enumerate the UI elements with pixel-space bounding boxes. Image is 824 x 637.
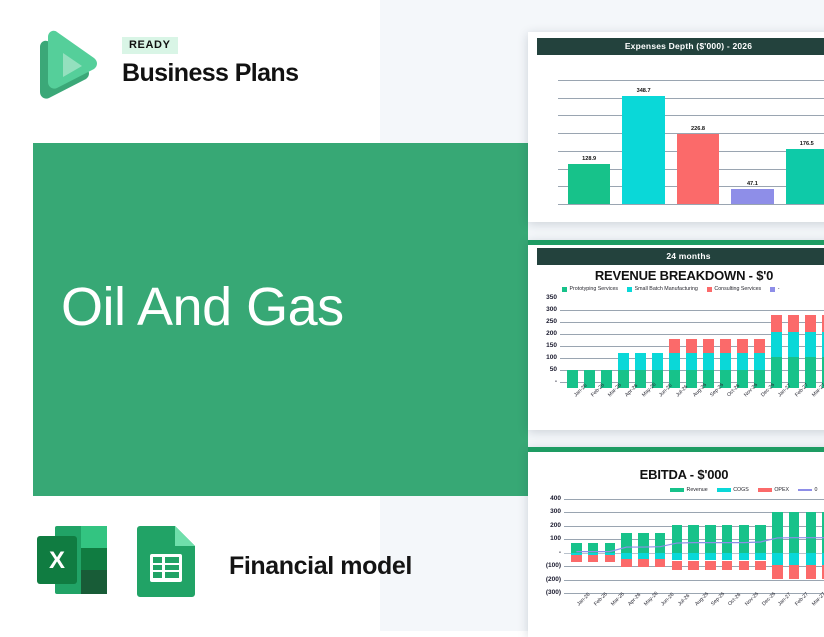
- stack-seg: [669, 339, 680, 353]
- legend-item: 0: [798, 487, 817, 493]
- stack-seg: [754, 339, 765, 353]
- expenses-depth-plot: 128.9348.7226.847.1176.5: [538, 62, 824, 212]
- legend-ebitda: RevenueCOGSOPEX0: [670, 487, 818, 493]
- gridline: [560, 334, 824, 335]
- legend-swatch: [670, 488, 684, 492]
- microsoft-excel-icon: X: [33, 522, 111, 598]
- gridline: [560, 322, 824, 323]
- chart-card-ebitda[interactable]: EBITDA - $'000 RevenueCOGSOPEX0 40030020…: [528, 447, 824, 637]
- y-tick: 100: [538, 355, 557, 362]
- chart-header-24-months: 24 months: [537, 248, 824, 265]
- gridline: [558, 115, 824, 116]
- stack-seg: [771, 315, 782, 333]
- legend-swatch: [562, 287, 567, 292]
- legend-swatch: [707, 287, 712, 292]
- stack-seg: [635, 353, 646, 370]
- revenue-breakdown-plot: 35030025020015010050-: [538, 296, 824, 392]
- y-tick: 250: [538, 319, 557, 326]
- google-sheets-icon: [129, 522, 203, 598]
- legend-item: Revenue: [670, 487, 708, 493]
- stack-seg: [618, 353, 629, 370]
- legend-item: OPEX: [758, 487, 789, 493]
- stack-seg: [788, 315, 799, 333]
- y-tick: 350: [538, 295, 557, 302]
- legend-label: Small Batch Manufacturing: [635, 286, 698, 292]
- legend-label: OPEX: [774, 487, 789, 493]
- y-tick: 50: [538, 367, 557, 374]
- stack-seg: [652, 353, 663, 370]
- stack-seg: [567, 370, 578, 388]
- legend-swatch: [770, 287, 775, 292]
- ebitda-plot: 400300200100-(100)(200)(300): [538, 497, 824, 601]
- stack-seg: [686, 339, 697, 353]
- gridline: [558, 204, 824, 205]
- legend-item: Prototyping Services: [562, 286, 618, 292]
- chart-title-ebitda: EBITDA - $'000: [528, 467, 824, 482]
- legend-item: Small Batch Manufacturing: [627, 286, 698, 292]
- bar-4: [731, 189, 773, 204]
- page-title: Oil And Gas: [61, 276, 344, 338]
- stack-seg: [754, 353, 765, 370]
- stack-seg: [720, 353, 731, 370]
- stack-seg: [737, 339, 748, 353]
- slide-canvas: READY Business Plans Oil And Gas X: [0, 0, 824, 631]
- ebitda-line: [538, 497, 824, 601]
- stack-seg: [737, 353, 748, 370]
- legend-label: COGS: [733, 487, 749, 493]
- stack-seg: [805, 332, 816, 357]
- stack-seg: [771, 332, 782, 357]
- legend-revenue: Prototyping ServicesSmall Batch Manufact…: [562, 286, 779, 292]
- legend-label: -: [778, 286, 780, 292]
- chart-header-expenses: Expenses Depth ($'000) - 2026: [537, 38, 824, 55]
- stack-seg: [686, 370, 697, 388]
- legend-line: [798, 489, 812, 491]
- legend-swatch: [627, 287, 632, 292]
- legend-label: Consulting Services: [714, 286, 761, 292]
- brand-header: READY Business Plans: [30, 25, 360, 105]
- stack-seg: [703, 339, 714, 353]
- stack-seg: [686, 353, 697, 370]
- chart-card-expenses-depth[interactable]: Expenses Depth ($'000) - 2026 128.9348.7…: [528, 32, 824, 222]
- chart-title-revenue: REVENUE BREAKDOWN - $'0: [528, 268, 824, 283]
- y-tick: -: [538, 379, 557, 386]
- legend-swatch: [717, 488, 731, 492]
- stack-seg: [788, 332, 799, 357]
- accent-strip-ebitda: [528, 447, 824, 452]
- play-logo-icon: [30, 29, 98, 101]
- bar-3: [677, 134, 719, 204]
- stack-seg: [720, 339, 731, 353]
- gridline: [560, 310, 824, 311]
- ready-badge: READY: [122, 37, 178, 54]
- legend-label: 0: [815, 487, 818, 493]
- stack-seg: [805, 315, 816, 333]
- stack-seg: [703, 353, 714, 370]
- gridline: [558, 98, 824, 99]
- y-tick: 150: [538, 343, 557, 350]
- bar-2: [622, 96, 664, 204]
- y-tick: 300: [538, 307, 557, 314]
- legend-item: COGS: [717, 487, 749, 493]
- chart-card-revenue-breakdown[interactable]: 24 months REVENUE BREAKDOWN - $'0 Protot…: [528, 240, 824, 430]
- legend-label: Prototyping Services: [570, 286, 619, 292]
- bar-1: [568, 164, 610, 204]
- legend-swatch: [758, 488, 772, 492]
- accent-strip: [528, 240, 824, 245]
- bar-label-5: 176.5: [786, 141, 824, 147]
- stack-seg: [669, 353, 680, 370]
- svg-text:X: X: [49, 547, 65, 574]
- bar-label-1: 128.9: [568, 156, 610, 162]
- legend-item: -: [770, 286, 779, 292]
- legend-label: Revenue: [687, 487, 708, 493]
- bar-label-2: 348.7: [622, 88, 664, 94]
- y-tick: 200: [538, 331, 557, 338]
- bar-5: [786, 149, 824, 204]
- bar-label-4: 47.1: [731, 181, 773, 187]
- legend-item: Consulting Services: [707, 286, 761, 292]
- financial-model-label: Financial model: [229, 552, 412, 581]
- brand-title: Business Plans: [122, 59, 298, 88]
- hero-banner: Oil And Gas: [33, 143, 528, 496]
- bar-label-3: 226.8: [677, 126, 719, 132]
- gridline: [558, 80, 824, 81]
- footer-row: X Financial model: [33, 520, 433, 600]
